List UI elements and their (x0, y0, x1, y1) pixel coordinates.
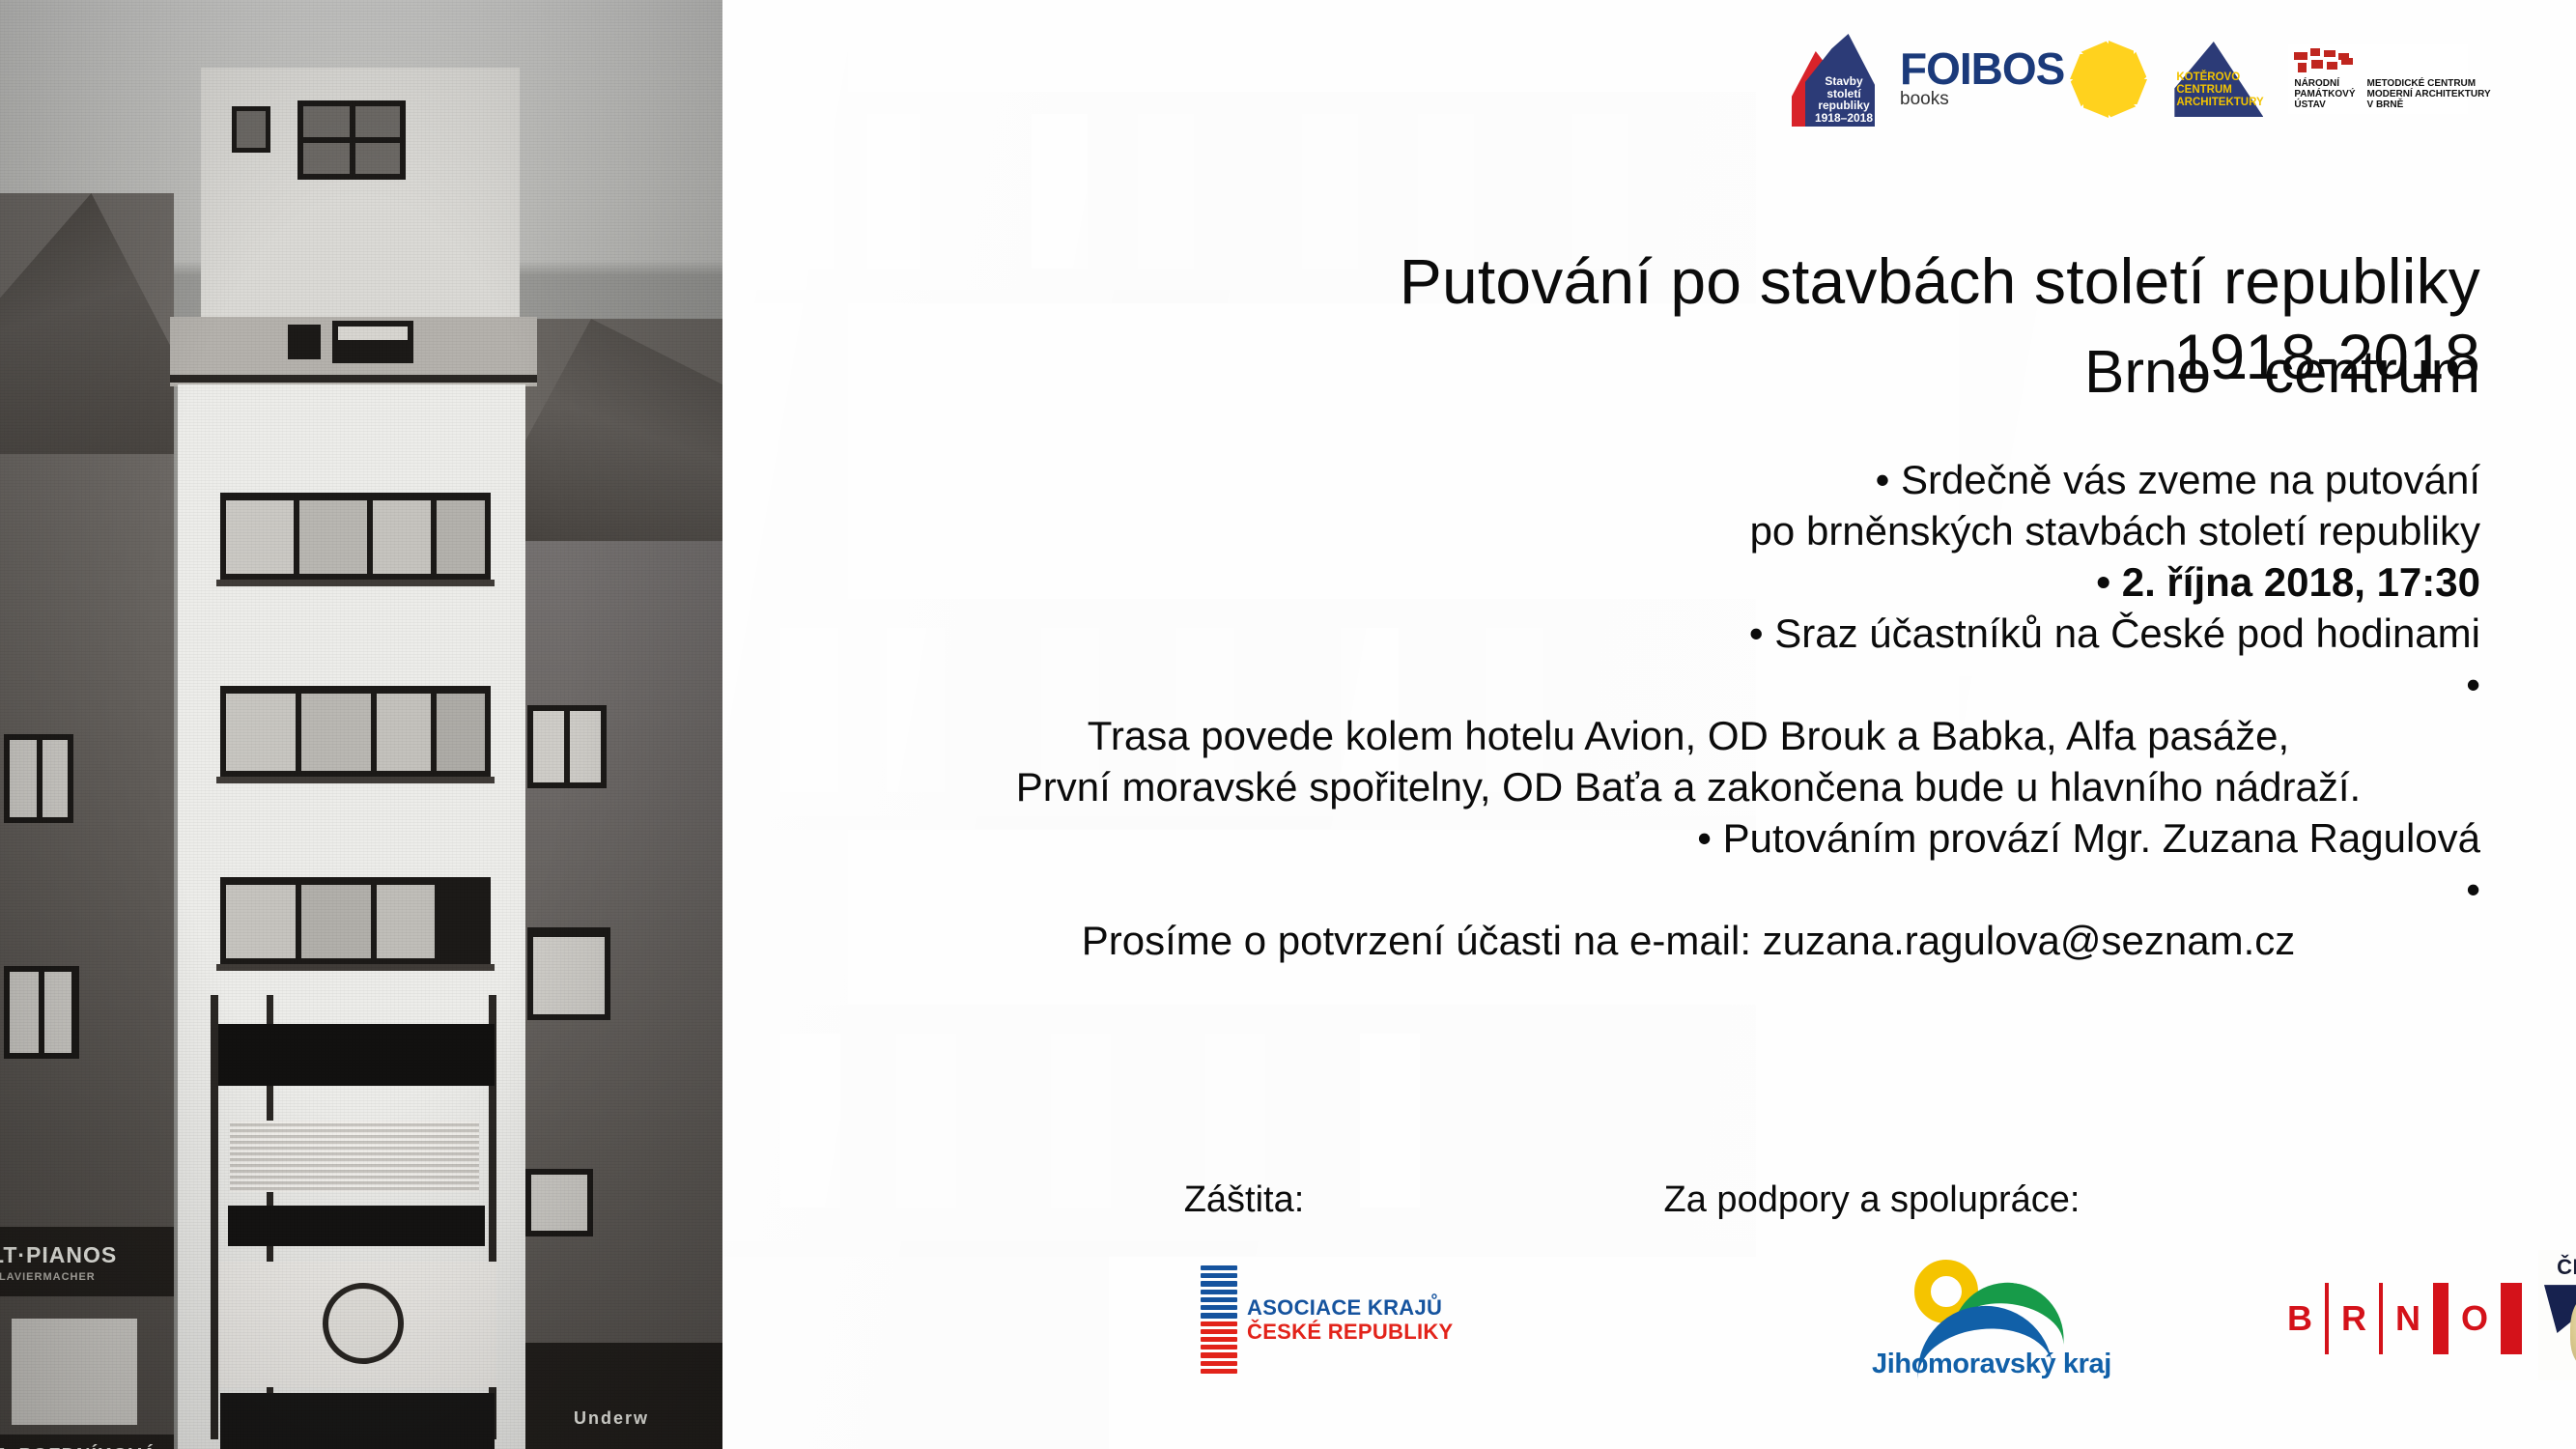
stavby-logo-text: Stavby století republiky 1918–2018 (1813, 75, 1875, 124)
window-pane (237, 111, 266, 148)
npu-text-block: NÁRODNÍ PAMÁTKOVÝ ÚSTAV METODICKÉ CENTRU… (2294, 78, 2462, 110)
npu-mark-icon (2294, 48, 2362, 73)
akcr-line-2: ČESKÉ REPUBLIKY (1247, 1320, 1454, 1344)
kca-line-1: KOTĚROVO (2176, 71, 2259, 84)
npu-name-column: NÁRODNÍ PAMÁTKOVÝ ÚSTAV (2294, 78, 2355, 110)
window-pane (437, 500, 485, 574)
window-pane (10, 972, 39, 1053)
jihomoravsky-kraj-logo: Jihomoravský kraj (1872, 1256, 2162, 1391)
window-pane (42, 740, 68, 817)
npu-branch-line-3: V BRNĚ (2367, 99, 2491, 110)
ckait-wordmark: ČKAIT (2538, 1255, 2576, 1280)
window-pane (355, 143, 400, 174)
bullet-invitation-line-2: po brněnských stavbách století republiky (896, 505, 2480, 556)
npu-branch-line-2: MODERNÍ ARCHITEKTURY (2367, 89, 2491, 99)
brno-bar-2 (2379, 1283, 2383, 1354)
jmk-wordmark: Jihomoravský kraj (1872, 1349, 2162, 1380)
brno-letter-o: O (2461, 1283, 2488, 1354)
foibos-wordmark: FOIBOS (1900, 49, 2064, 88)
rsvp-email-line: Prosíme o potvrzení účasti na e-mail: zu… (896, 915, 2480, 966)
shop-window (12, 1319, 137, 1425)
window-pane (44, 972, 71, 1053)
window-pane (533, 937, 605, 1014)
stavby-stoleti-republiky-logo: Stavby století republiky 1918–2018 (1790, 32, 1875, 127)
bullet-meeting-point: • Sraz účastníků na České pod hodinami (896, 608, 2480, 659)
window-pane (226, 694, 296, 771)
window (288, 325, 321, 359)
sign-text-pianos: LT·PIANOS (0, 1242, 117, 1268)
bullet-invitation-line-1: • Srdečně vás zveme na putování (896, 454, 2480, 505)
window-sill (216, 580, 495, 586)
route-line-1: Trasa povede kolem hotelu Avion, OD Brou… (896, 710, 2480, 761)
route-line-2: První moravské spořitelny, OD Baťa a zak… (896, 761, 2480, 812)
window-pane (301, 694, 371, 771)
window-pane (355, 106, 400, 137)
bullet-empty-2: • (896, 864, 2480, 915)
partner-logos-top: Stavby století republiky 1918–2018 FOIBO… (1790, 21, 2562, 137)
sign-text-pozdnikova: E. POZDNÍKOVÁ (0, 1445, 157, 1449)
bullet-empty-1: • (896, 659, 2480, 710)
support-label: Za podpory a spolupráce: (1592, 1177, 2152, 1223)
partner-logos-bottom: ASOCIACE KRAJŮ ČESKÉ REPUBLIKY Jihomorav… (896, 1246, 2576, 1439)
npu-branch-line-1: METODICKÉ CENTRUM (2367, 78, 2491, 89)
bullet-date-time: • 2. října 2018, 17:30 (896, 556, 2480, 608)
brno-letter-n: N (2395, 1283, 2420, 1354)
window-pane (301, 885, 371, 958)
shop-emblem (323, 1283, 404, 1364)
stavby-line-4: 1918–2018 (1813, 112, 1875, 125)
patronage-label: Záštita: (896, 1177, 1592, 1223)
asociace-kraju-logo: ASOCIACE KRAJŮ ČESKÉ REPUBLIKY (1201, 1262, 1481, 1378)
window-pane (570, 711, 601, 782)
window-pane (226, 885, 296, 958)
foibos-books-logo: FOIBOS books (1900, 39, 2149, 120)
kca-line-2: CENTRUM (2176, 84, 2259, 97)
npu-branch-column: METODICKÉ CENTRUM MODERNÍ ARCHITEKTURY V… (2367, 78, 2491, 110)
window-pane (377, 694, 431, 771)
brno-bar-3 (2433, 1283, 2449, 1354)
akcr-line-1: ASOCIACE KRAJŮ (1247, 1295, 1454, 1320)
brno-letter-b: B (2287, 1283, 2312, 1354)
content-panel: Stavby století republiky 1918–2018 FOIBO… (722, 0, 2576, 1449)
facade-mullion (211, 995, 218, 1439)
stavby-line-3: republiky (1813, 99, 1875, 112)
shopfront-window (218, 1024, 495, 1086)
kca-logo-text: KOTĚROVO CENTRUM ARCHITEKTURY (2176, 71, 2259, 109)
historic-building-photo: LT·PIANOS KLAVIERMACHER E. POZDNÍKOVÁ Un… (0, 0, 722, 1449)
window-pane (303, 106, 350, 137)
window-pane (299, 500, 367, 574)
roof-right (510, 319, 722, 570)
balcony-rail (170, 375, 537, 383)
brno-bar-4 (2501, 1283, 2522, 1354)
stavby-line-1: Stavby (1813, 75, 1875, 88)
awning (230, 1121, 479, 1192)
npu-line-1: NÁRODNÍ (2294, 78, 2355, 89)
npu-line-2: PAMÁTKOVÝ (2294, 89, 2355, 99)
brno-letter-r: R (2341, 1283, 2366, 1354)
entrance-passage (220, 1393, 495, 1449)
neighbour-building-right: Underw (510, 319, 722, 1449)
kca-line-3: ARCHITEKTURY (2176, 97, 2259, 109)
window-pane (303, 143, 350, 174)
page-subtitle: Brno - centrum (1225, 338, 2480, 408)
window-pane (373, 500, 431, 574)
wall-left (0, 454, 174, 1449)
window-sill (216, 964, 495, 971)
patronage-labels: Záštita: Za podpory a spolupráce: (896, 1177, 2480, 1223)
brno-logo: B R N O (2287, 1283, 2522, 1354)
modern-building (170, 68, 537, 1449)
npu-line-3: ÚSTAV (2294, 99, 2355, 110)
neighbour-building-left: LT·PIANOS KLAVIERMACHER E. POZDNÍKOVÁ (0, 193, 174, 1449)
window-pane (338, 327, 408, 340)
window-pane (437, 694, 485, 771)
window-sill (216, 777, 495, 783)
akcr-bars-icon (1201, 1265, 1237, 1374)
bullet-guide: • Putováním provází Mgr. Zuzana Ragulová (896, 812, 2480, 864)
window-pane (10, 740, 37, 817)
koterovo-centrum-architektury-logo: KOTĚROVO CENTRUM ARCHITEKTURY (2174, 42, 2263, 117)
sign-text-klaviermacher: KLAVIERMACHER (0, 1271, 96, 1283)
brno-bar-1 (2325, 1283, 2329, 1354)
window-pane (226, 500, 294, 574)
window-pane (377, 885, 435, 958)
narodni-pamatkovy-ustav-logo: NÁRODNÍ PAMÁTKOVÝ ÚSTAV METODICKÉ CENTRU… (2288, 44, 2468, 114)
akcr-wordmark: ASOCIACE KRAJŮ ČESKÉ REPUBLIKY (1247, 1295, 1454, 1344)
sign-text-underwood: Underw (574, 1408, 649, 1429)
poster: LT·PIANOS KLAVIERMACHER E. POZDNÍKOVÁ Un… (0, 0, 2576, 1449)
pinwheel-icon (2068, 39, 2149, 120)
window-pane (531, 1175, 587, 1231)
shopfront-window (228, 1206, 485, 1246)
window-pane (533, 711, 564, 782)
event-details: • Srdečně vás zveme na putování po brněn… (896, 454, 2480, 966)
ckait-logo: ČKAIT (2538, 1250, 2576, 1380)
roof-left (0, 193, 174, 483)
